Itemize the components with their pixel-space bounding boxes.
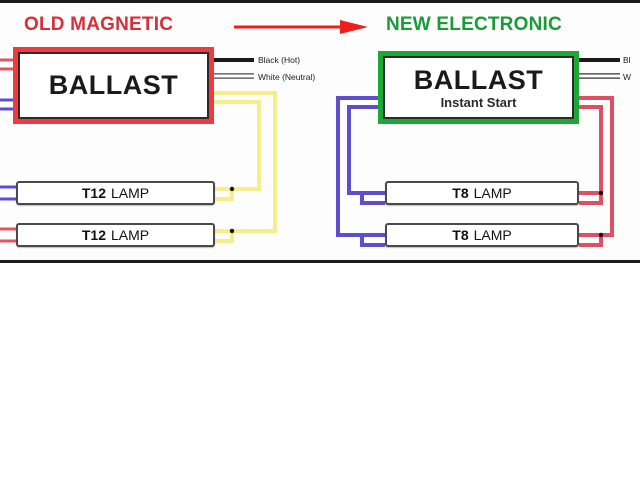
lamp-word-label: LAMP (111, 185, 149, 201)
lamp-t8-top: T8 LAMP (385, 181, 579, 205)
lamp-t12-top: T12 LAMP (16, 181, 215, 205)
old-ballast-title: BALLAST (49, 72, 178, 99)
lamp-word-label: LAMP (474, 227, 512, 243)
new-ballast-title: BALLAST (414, 67, 543, 94)
lamp-type-label: T8 (452, 185, 468, 201)
lamp-type-label: T8 (452, 227, 468, 243)
lamp-type-label: T12 (82, 185, 106, 201)
lamp-t8-bottom: T8 LAMP (385, 223, 579, 247)
new-ballast-subtitle: Instant Start (414, 96, 543, 109)
new-ballast-box: BALLAST Instant Start (378, 51, 579, 124)
screenshot-root: OLD MAGNETIC NEW ELECTRONIC BALLAST BALL… (0, 0, 640, 480)
lamp-type-label: T12 (82, 227, 106, 243)
lamp-t12-bottom: T12 LAMP (16, 223, 215, 247)
old-yellow-jumpers (214, 93, 275, 231)
new-red-lamp-wires (579, 98, 612, 235)
blank-area-below-diagram (0, 263, 640, 480)
lamp-word-label: LAMP (474, 185, 512, 201)
new-red-wire-hooks (579, 193, 601, 245)
old-ballast-labels: BALLAST (49, 72, 178, 99)
new-ballast-labels: BALLAST Instant Start (414, 67, 543, 109)
ballast-wiring-diagram: OLD MAGNETIC NEW ELECTRONIC BALLAST BALL… (0, 0, 640, 263)
old-ballast-box: BALLAST (13, 47, 214, 124)
old-yellow-jumper-hooks (215, 189, 232, 241)
lamp-word-label: LAMP (111, 227, 149, 243)
new-blue-wire-hooks (362, 193, 385, 245)
